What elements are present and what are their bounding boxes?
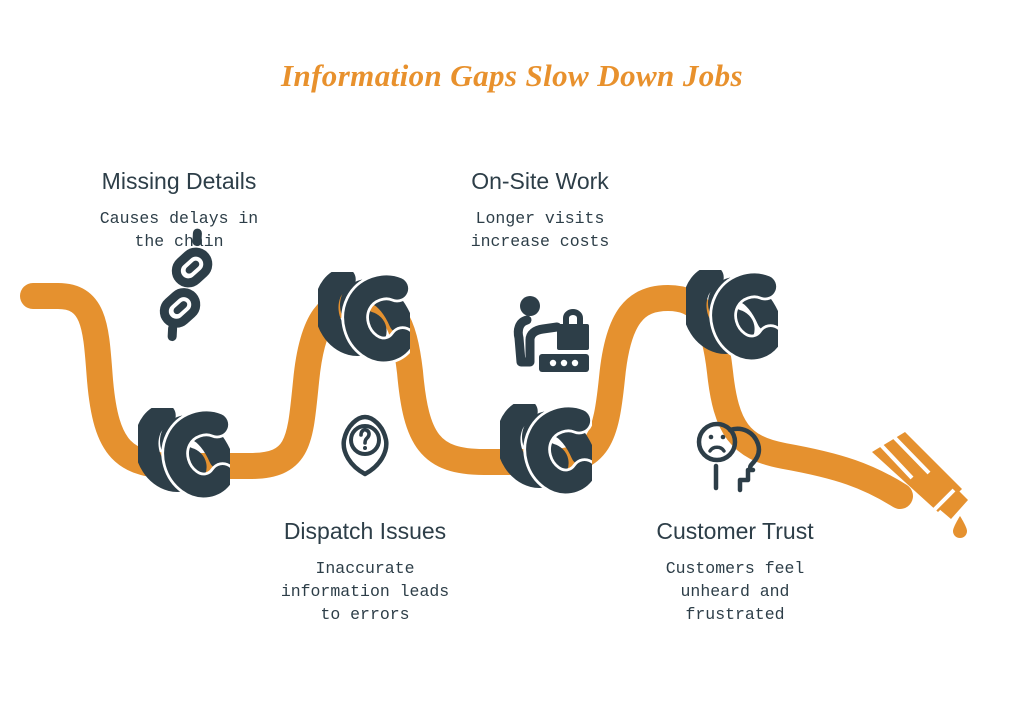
customer-trust-body: Customers feel unheard and frustrated (610, 558, 860, 626)
location-pin-question-icon (344, 417, 387, 474)
missing-details-heading: Missing Details (46, 168, 312, 194)
block-missing-details: Missing Details Causes delays in the cha… (46, 168, 312, 254)
on-site-work-heading: On-Site Work (420, 168, 660, 194)
missing-details-body: Causes delays in the chain (46, 208, 312, 254)
hose-illustration (0, 0, 1024, 710)
on-site-work-body: Longer visits increase costs (420, 208, 660, 254)
water-drop-icon (953, 516, 967, 538)
knot-3 (509, 411, 585, 482)
block-customer-trust: Customer Trust Customers feel unheard an… (610, 518, 860, 627)
knot-1 (147, 415, 223, 486)
knot-4 (695, 277, 771, 348)
dispatch-issues-body: Inaccurate information leads to errors (240, 558, 490, 626)
infographic-canvas: Information Gaps Slow Down Jobs (0, 0, 1024, 710)
customer-trust-heading: Customer Trust (610, 518, 860, 544)
dispatch-issues-heading: Dispatch Issues (240, 518, 490, 544)
knot-2 (327, 279, 403, 350)
block-dispatch-issues: Dispatch Issues Inaccurate information l… (240, 518, 490, 627)
worker-baggage-icon (518, 296, 589, 372)
block-on-site-work: On-Site Work Longer visits increase cost… (420, 168, 660, 254)
